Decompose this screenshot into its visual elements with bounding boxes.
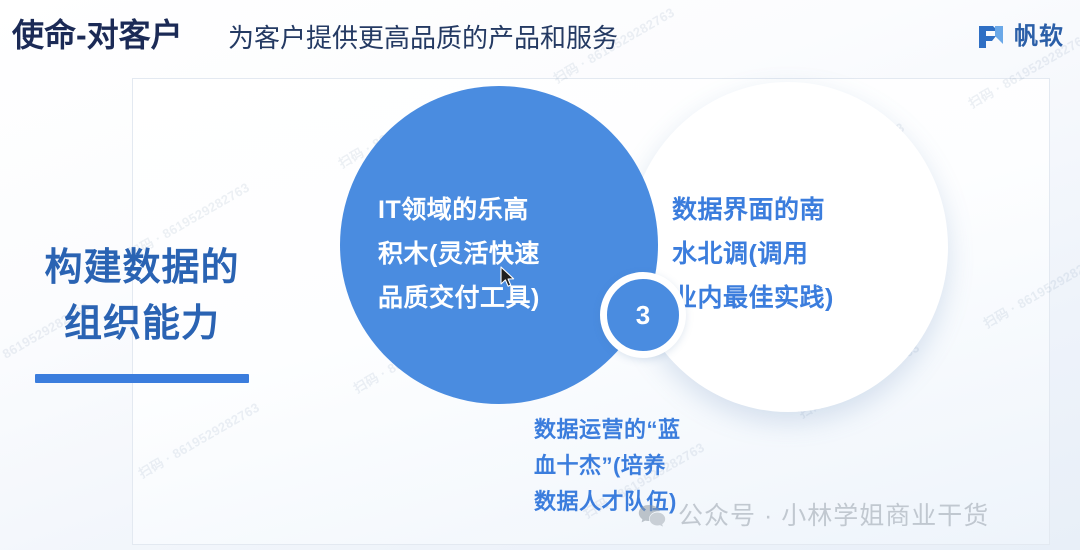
venn-white-line-3: 业内最佳实践) — [672, 276, 908, 320]
slide-header: 使命-对客户 为客户提供更高品质的产品和服务 帆软 — [0, 0, 1080, 78]
venn-bottom-line-1: 数据运营的“蓝 — [534, 412, 784, 448]
step-badge: 3 — [600, 272, 686, 358]
page-subtitle: 为客户提供更高品质的产品和服务 — [228, 21, 618, 55]
brand-logo-text: 帆软 — [1014, 22, 1064, 52]
step-badge-number: 3 — [636, 302, 650, 328]
venn-blue-line-3: 品质交付工具) — [378, 276, 610, 320]
section-heading-line-2: 组织能力 — [22, 296, 262, 352]
account-watermark-text: 公众号 · 小林学姐商业干货 — [678, 500, 989, 532]
section-heading: 构建数据的 组织能力 — [22, 240, 262, 352]
venn-circle-white-label: 数据界面的南 水北调(调用 业内最佳实践) — [672, 188, 908, 320]
section-heading-underline — [35, 374, 249, 383]
venn-blue-line-1: IT领域的乐高 — [378, 188, 610, 232]
wechat-official-account-icon — [636, 500, 668, 532]
slide-canvas: 扫码 · 8619529282763 扫码 · 8619529282763 扫码… — [0, 0, 1080, 550]
venn-bottom-line-2: 血十杰”(培养 — [534, 448, 784, 484]
section-heading-line-1: 构建数据的 — [44, 247, 239, 289]
brand-logo: 帆软 — [976, 22, 1064, 52]
page-title: 使命-对客户 — [12, 15, 183, 55]
venn-circle-blue-label: IT领域的乐高 积木(灵活快速 品质交付工具) — [378, 188, 610, 320]
fanruan-logo-icon — [976, 22, 1006, 52]
venn-white-line-1: 数据界面的南 — [672, 188, 908, 232]
venn-white-line-2: 水北调(调用 — [672, 232, 908, 276]
section-heading-block: 构建数据的 组织能力 — [22, 240, 262, 383]
account-watermark: 公众号 · 小林学姐商业干货 — [636, 500, 989, 532]
venn-blue-line-2: 积木(灵活快速 — [378, 232, 610, 276]
